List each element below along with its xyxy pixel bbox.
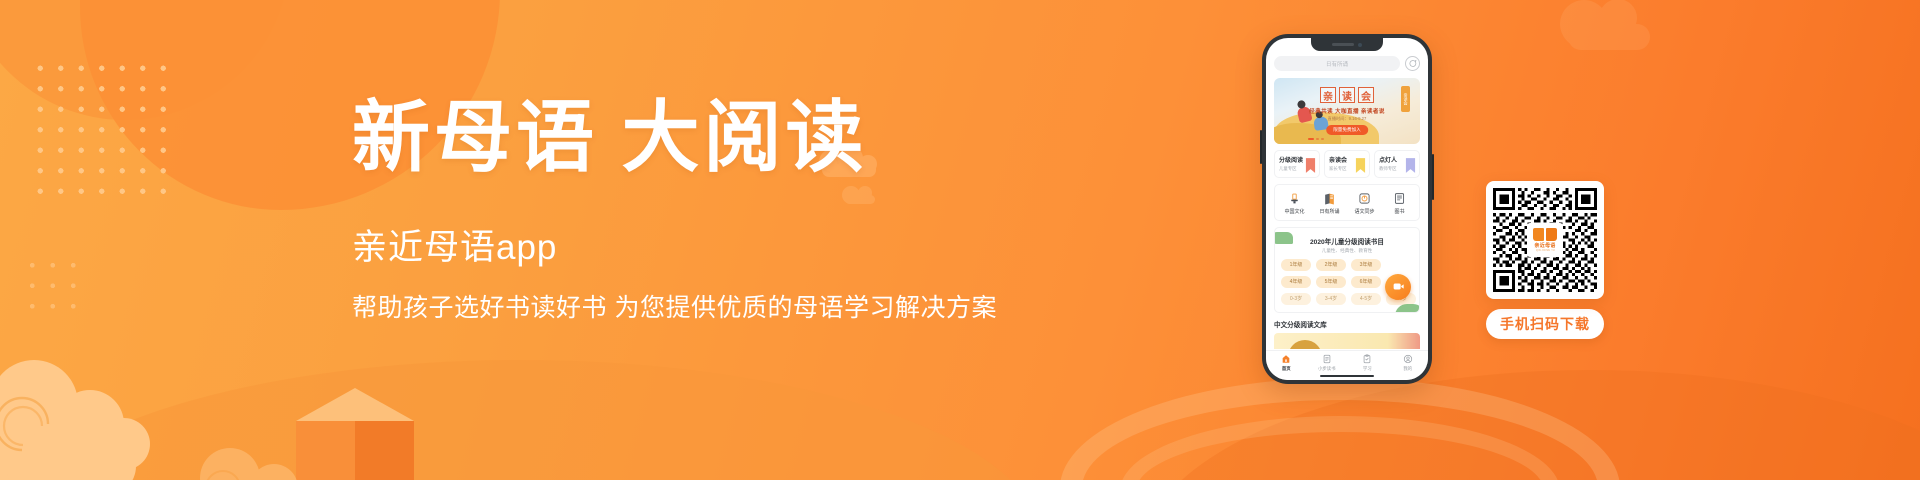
quick-icon-label: 日有所诵 bbox=[1312, 208, 1347, 215]
top-left-circle-decoration bbox=[0, 0, 290, 120]
grade-chip[interactable]: 6年级 bbox=[1351, 276, 1381, 288]
tab-label: 首页 bbox=[1266, 366, 1307, 372]
phone-notch bbox=[1311, 38, 1383, 51]
bookmark-icon bbox=[1305, 158, 1316, 173]
category-card[interactable]: 点灯人 教师专区 bbox=[1374, 150, 1420, 178]
booklist-title: 2020年儿童分级阅读书目 bbox=[1281, 236, 1413, 246]
banner-copy: 新母语 大阅读 亲近母语app 帮助孩子选好书读好书 为您提供优质的母语学习解决… bbox=[352, 96, 1032, 324]
page-title: 新母语 大阅读 bbox=[352, 96, 1032, 180]
age-chip[interactable]: 4-5岁 bbox=[1351, 293, 1381, 305]
app-category-cards: 分级阅读 儿童专区 亲读会 家长专区 点灯人 教师专区 bbox=[1274, 150, 1420, 178]
banner-subtitle: 亲近母语app bbox=[352, 228, 1032, 268]
brand-logo: 亲近母语 QIN JIN MU YU bbox=[1527, 223, 1563, 257]
quick-icon-books[interactable]: 图书 bbox=[1382, 191, 1417, 215]
tab-label: 小步读书 bbox=[1307, 366, 1348, 372]
study-icon bbox=[1347, 354, 1388, 365]
brand-pinyin: QIN JIN MU YU bbox=[1536, 249, 1555, 252]
grade-chip[interactable]: 2年级 bbox=[1316, 259, 1346, 271]
cube-decoration bbox=[296, 388, 414, 480]
brand-name: 亲近母语 bbox=[1534, 242, 1555, 249]
library-title: 中文分级阅读文库 bbox=[1274, 319, 1420, 329]
read-icon bbox=[1307, 354, 1348, 365]
ripple-inner-decoration bbox=[1120, 416, 1560, 480]
qr-download-block: 亲近母语 QIN JIN MU YU 手机扫码下载 bbox=[1486, 181, 1604, 339]
leaf-decoration bbox=[1395, 304, 1420, 313]
quick-icon-sync[interactable]: 语文同步 bbox=[1347, 191, 1382, 215]
promo-side-tag: 亲读会 bbox=[1401, 86, 1410, 112]
tab-profile[interactable]: 我的 bbox=[1388, 354, 1429, 373]
tab-read[interactable]: 小步读书 bbox=[1307, 354, 1348, 373]
quick-icon-recite[interactable]: 日有所诵 bbox=[1312, 191, 1347, 215]
quick-icon-label: 中国文化 bbox=[1277, 208, 1312, 215]
leaf-decoration bbox=[1274, 232, 1293, 244]
phone-mockup: 日有所诵 亲 读 会 亲读会 经典共 bbox=[1262, 34, 1432, 384]
library-banner[interactable] bbox=[1274, 333, 1420, 349]
promo-banner: 新母语 大阅读 亲近母语app 帮助孩子选好书读好书 为您提供优质的母语学习解决… bbox=[0, 0, 1920, 480]
culture-icon bbox=[1277, 191, 1312, 206]
category-card[interactable]: 亲读会 家长专区 bbox=[1324, 150, 1370, 178]
cloud-icon bbox=[0, 348, 176, 480]
play-video-icon[interactable] bbox=[1385, 274, 1411, 300]
promo-title-char: 读 bbox=[1339, 87, 1355, 103]
home-icon bbox=[1266, 354, 1307, 365]
app-promo-banner[interactable]: 亲 读 会 亲读会 经典共读 大咖直播 亲读者说 直播时间：9.16-9.27 … bbox=[1274, 78, 1420, 144]
tab-study[interactable]: 学习 bbox=[1347, 354, 1388, 373]
dot-grid-decoration bbox=[30, 58, 176, 208]
cloud-top-right-icon bbox=[1550, 0, 1670, 60]
promo-title-char: 会 bbox=[1358, 87, 1374, 103]
app-booklist-section: 2020年儿童分级阅读书目 儿童性、经典性、教育性 1年级 2年级 3年级 4年… bbox=[1274, 227, 1420, 314]
grade-chip[interactable]: 1年级 bbox=[1281, 259, 1311, 271]
tab-label: 我的 bbox=[1388, 366, 1429, 372]
download-button[interactable]: 手机扫码下载 bbox=[1486, 309, 1604, 339]
promo-subtitle: 经典共读 大咖直播 亲读者说 bbox=[1309, 107, 1385, 115]
quick-icon-culture[interactable]: 中国文化 bbox=[1277, 191, 1312, 215]
grade-chip[interactable]: 3年级 bbox=[1351, 259, 1381, 271]
user-icon bbox=[1388, 354, 1429, 365]
search-input[interactable]: 日有所诵 bbox=[1274, 56, 1400, 71]
book-icon bbox=[1382, 191, 1417, 206]
cloud-small-icon bbox=[190, 430, 340, 480]
ripple-decoration bbox=[1060, 378, 1620, 480]
tab-home[interactable]: 首页 bbox=[1266, 354, 1307, 373]
recite-icon bbox=[1312, 191, 1347, 206]
promo-title: 亲 读 会 bbox=[1320, 87, 1374, 103]
promo-date: 直播时间：9.16-9.27 bbox=[1328, 116, 1367, 122]
carousel-dots[interactable] bbox=[1308, 138, 1324, 140]
grade-chip[interactable]: 4年级 bbox=[1281, 276, 1311, 288]
qr-code-icon[interactable]: 亲近母语 QIN JIN MU YU bbox=[1486, 181, 1604, 299]
message-icon[interactable] bbox=[1405, 56, 1420, 71]
age-chip[interactable]: 3-4岁 bbox=[1316, 293, 1346, 305]
promo-join-button[interactable]: 限量免费加入 bbox=[1326, 125, 1368, 135]
app-search-row: 日有所诵 bbox=[1274, 56, 1420, 71]
banner-tagline: 帮助孩子选好书读好书 为您提供优质的母语学习解决方案 bbox=[352, 292, 1032, 324]
grade-row: 1年级 2年级 3年级 bbox=[1281, 259, 1413, 271]
bookmark-icon bbox=[1355, 158, 1366, 173]
age-chip[interactable]: 0-3岁 bbox=[1281, 293, 1311, 305]
tab-label: 学习 bbox=[1347, 366, 1388, 372]
hill-right-decoration bbox=[1140, 370, 1920, 480]
home-indicator bbox=[1320, 375, 1374, 378]
booklist-subtitle: 儿童性、经典性、教育性 bbox=[1281, 248, 1413, 254]
hill-decoration bbox=[0, 360, 1040, 480]
grade-chip[interactable]: 5年级 bbox=[1316, 276, 1346, 288]
dot-grid-small-decoration bbox=[22, 255, 82, 317]
category-card[interactable]: 分级阅读 儿童专区 bbox=[1274, 150, 1320, 178]
quick-icon-label: 图书 bbox=[1382, 208, 1417, 215]
app-quick-icons: 中国文化 日有所诵 语文同步 bbox=[1274, 184, 1420, 221]
sync-icon bbox=[1347, 191, 1382, 206]
bookmark-icon bbox=[1405, 158, 1416, 173]
quick-icon-label: 语文同步 bbox=[1347, 208, 1382, 215]
promo-title-char: 亲 bbox=[1320, 87, 1336, 103]
